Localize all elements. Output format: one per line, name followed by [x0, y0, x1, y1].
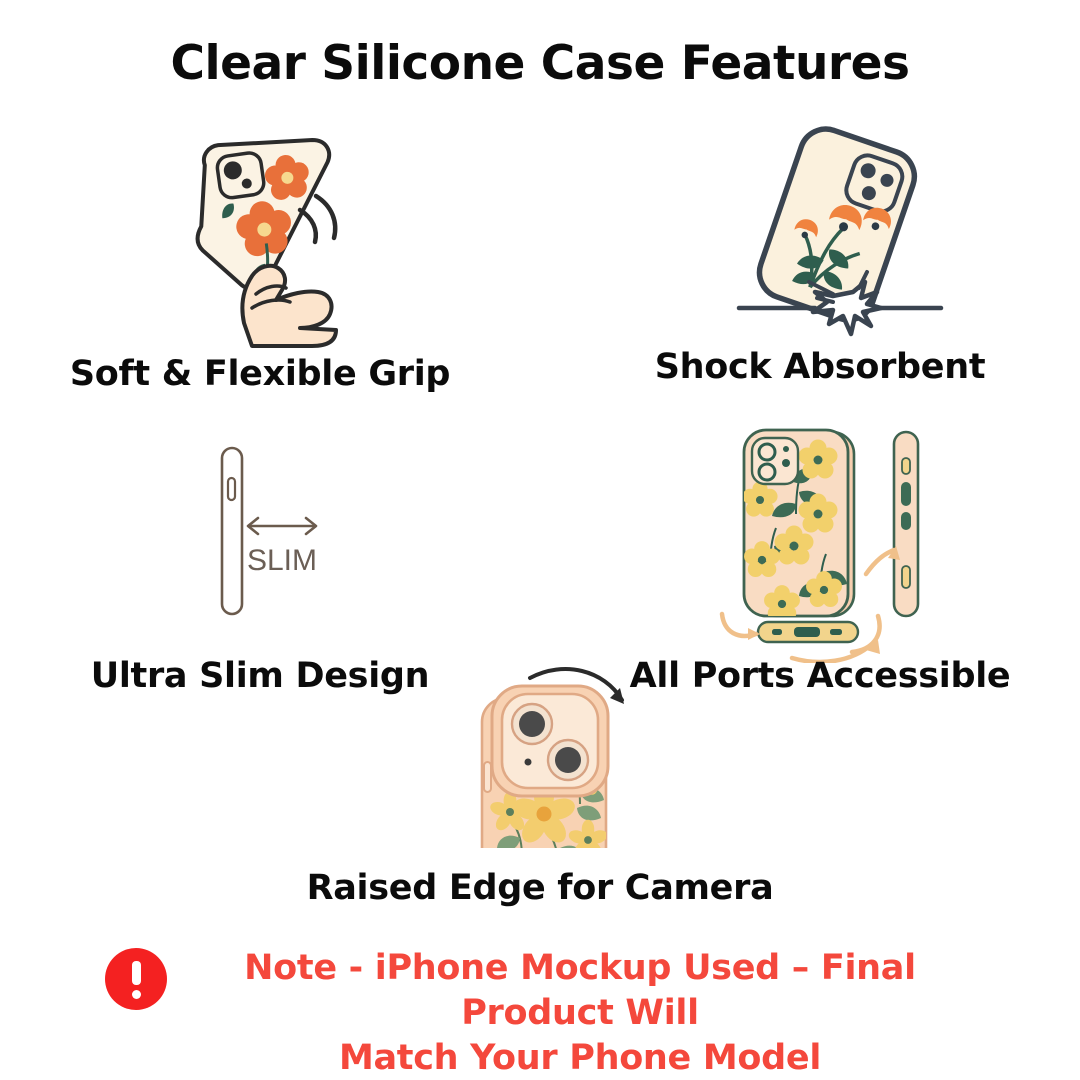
hand-holding-flexing-phone-case-icon [140, 118, 370, 348]
exclamation-circle-icon [105, 948, 167, 1010]
feature-raised-edge-for-camera [440, 662, 660, 848]
slim-annotation-label: SLIM [247, 544, 317, 577]
phone-case-impact-burst-icon [735, 122, 945, 337]
phone-case-ports-side-rail-arrows-icon [700, 418, 950, 663]
phone-side-profile-slim-arrow-icon: SLIM [190, 430, 370, 630]
exclamation-dot [132, 990, 141, 999]
note-line-1: Note - iPhone Mockup Used – Final Produc… [244, 948, 916, 1033]
note-block: Note - iPhone Mockup Used – Final Produc… [0, 946, 1080, 1080]
note-text: Note - iPhone Mockup Used – Final Produc… [185, 946, 975, 1080]
caption-shock-absorbent: Shock Absorbent [560, 347, 1080, 387]
page-title: Clear Silicone Case Features [0, 36, 1080, 91]
caption-raised-edge-for-camera: Raised Edge for Camera [280, 868, 800, 908]
note-line-2: Match Your Phone Model [185, 1036, 975, 1080]
infographic-page: Clear Silicone Case Features [0, 0, 1080, 1080]
exclamation-stem [132, 961, 141, 985]
phone-case-raised-camera-bezel-arrow-icon [440, 662, 660, 848]
caption-soft-flexible-grip: Soft & Flexible Grip [0, 354, 520, 394]
